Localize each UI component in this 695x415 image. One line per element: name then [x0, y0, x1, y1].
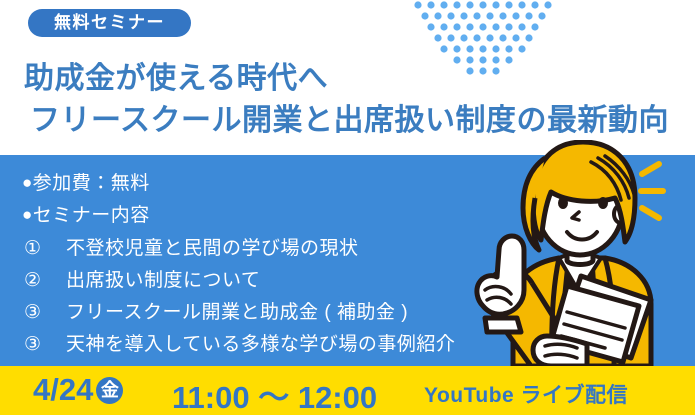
bullet-item-fee-label: 参加費：無料 [33, 173, 150, 194]
list-item-label: フリースクール開業と助成金 ( 補助金 ) [66, 302, 408, 323]
list-item-label: 天神を導入している多様な学び場の事例紹介 [66, 334, 455, 355]
seminar-banner: 無料セミナー 助成金が使える時代へ フリースクール開業と出席扱い制度の最新動向 … [0, 0, 695, 415]
dot-triangle-decoration [406, 0, 566, 78]
list-item-number: ③ [24, 301, 66, 324]
sparkle-lines [641, 164, 663, 218]
list-item: ③フリースクール開業と助成金 ( 補助金 ) [24, 297, 408, 324]
bullet-dot-icon: ● [22, 173, 33, 192]
list-item: ③天神を導入している多様な学び場の事例紹介 [24, 329, 455, 356]
event-date: 4/24金 [33, 372, 126, 408]
list-item-number: ① [24, 237, 66, 260]
bullet-item-contents: ●セミナー内容 [22, 200, 150, 227]
page-title-line-1: 助成金が使える時代へ [24, 53, 328, 97]
list-item-label: 出席扱い制度について [66, 270, 260, 291]
list-item: ②出席扱い制度について [24, 265, 260, 292]
stream-channel-label: YouTube ライブ配信 [424, 379, 628, 409]
list-item-number: ③ [24, 333, 66, 356]
bullet-item-fee: ●参加費：無料 [22, 168, 150, 195]
pointing-hand [477, 236, 524, 332]
banner-footer: 4/24金 11:00 〜 12:00 YouTube ライブ配信 [0, 366, 695, 415]
time-separator: 〜 [258, 380, 289, 415]
free-seminar-badge: 無料セミナー [28, 9, 191, 37]
event-time: 11:00 〜 12:00 [172, 372, 377, 415]
event-time-end: 12:00 [298, 380, 377, 415]
day-of-week-badge: 金 [96, 377, 123, 404]
bullet-item-contents-label: セミナー内容 [33, 205, 150, 226]
list-item: ①不登校児童と民間の学び場の現状 [24, 233, 359, 260]
eye-left [558, 197, 568, 209]
banner-header: 無料セミナー 助成金が使える時代へ フリースクール開業と出席扱い制度の最新動向 [0, 0, 695, 155]
eye-right [598, 197, 608, 209]
list-item-number: ② [24, 269, 66, 292]
event-time-start: 11:00 [172, 380, 250, 415]
presenter-illustration [455, 140, 695, 366]
list-item-label: 不登校児童と民間の学び場の現状 [66, 238, 359, 259]
event-date-value: 4/24 [33, 372, 93, 407]
holding-hand [533, 336, 587, 366]
page-title-line-2: フリースクール開業と出席扱い制度の最新動向 [30, 95, 669, 139]
bullet-dot-icon: ● [22, 205, 33, 224]
